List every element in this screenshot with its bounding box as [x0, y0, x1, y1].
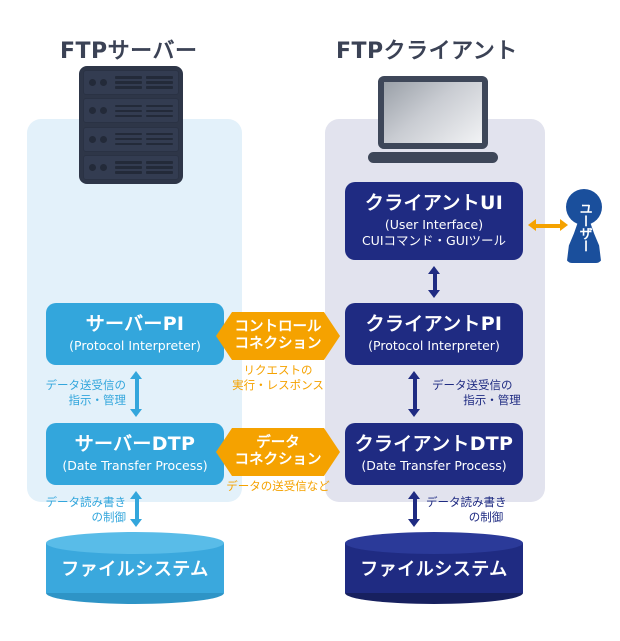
rack-unit [83, 98, 179, 123]
control-connection-sublabel: リクエストの 実行・レスポンス [216, 363, 340, 393]
label-line-2: 指示・管理 [432, 393, 552, 408]
client-pi-title: クライアントPI [366, 314, 503, 336]
server-pi-box[interactable]: サーバーPI (Protocol Interpreter) [46, 303, 224, 365]
label-line-1: データの送受信など [206, 479, 350, 494]
server-filesystem-cylinder[interactable]: ファイルシステム [46, 532, 224, 604]
label-line-1: データ読み書き [10, 495, 126, 510]
laptop-icon [378, 76, 494, 168]
data-connection-banner: データ コネクション [216, 428, 340, 476]
arrow-server-dtp-fs-label: データ読み書き の制御 [10, 495, 126, 525]
data-connection-line-1: データ [256, 435, 300, 452]
rack-unit [83, 70, 179, 95]
control-connection-banner: コントロール コネクション [216, 312, 340, 360]
rack-led-icon [100, 107, 107, 114]
arrow-client-pi-dtp-label: データ送受信の 指示・管理 [432, 378, 552, 408]
label-line-2: 実行・レスポンス [216, 378, 340, 393]
client-title: FTPクライアント [336, 33, 518, 65]
rack-led-icon [100, 136, 107, 143]
label-line-1: データ読み書き [426, 495, 546, 510]
client-ui-subtitle2: CUIコマンド・GUIツール [362, 233, 506, 249]
label-line-2: 指示・管理 [16, 393, 126, 408]
rack-led-icon [89, 79, 96, 86]
server-rack-icon [79, 66, 183, 184]
rack-unit [83, 155, 179, 180]
client-dtp-title: クライアントDTP [355, 434, 514, 456]
rack-led-icon [100, 79, 107, 86]
server-dtp-title: サーバーDTP [75, 434, 196, 456]
rack-led-icon [89, 107, 96, 114]
server-pi-subtitle: (Protocol Interpreter) [69, 338, 201, 354]
label-line-1: データ送受信の [16, 378, 126, 393]
laptop-base [368, 152, 498, 163]
rack-led-icon [89, 164, 96, 171]
server-dtp-subtitle: (Date Transfer Process) [62, 458, 207, 474]
label-line-2: の制御 [10, 510, 126, 525]
label-line-1: リクエストの [216, 363, 340, 378]
server-dtp-box[interactable]: サーバーDTP (Date Transfer Process) [46, 423, 224, 485]
client-ui-subtitle: (User Interface) [385, 217, 483, 233]
client-dtp-box[interactable]: クライアントDTP (Date Transfer Process) [345, 423, 523, 485]
label-line-1: データ送受信の [432, 378, 552, 393]
client-pi-subtitle: (Protocol Interpreter) [368, 338, 500, 354]
client-filesystem-cylinder[interactable]: ファイルシステム [345, 532, 523, 604]
user-label: ユーザー [560, 191, 608, 263]
client-ui-title: クライアントUI [365, 193, 503, 215]
rack-unit [83, 127, 179, 152]
server-pi-title: サーバーPI [86, 314, 185, 336]
ftp-architecture-diagram: FTPサーバー FTPクライアント サーバーP [0, 0, 620, 641]
arrow-client-dtp-fs-icon [408, 491, 421, 527]
server-filesystem-label: ファイルシステム [46, 532, 224, 604]
rack-led-icon [100, 164, 107, 171]
client-dtp-subtitle: (Date Transfer Process) [361, 458, 506, 474]
arrow-server-dtp-fs-icon [130, 491, 143, 527]
user-person-icon: ユーザー [560, 189, 608, 263]
client-ui-box[interactable]: クライアントUI (User Interface) CUIコマンド・GUIツール [345, 182, 523, 260]
laptop-screen [378, 76, 488, 149]
arrow-client-dtp-fs-label: データ読み書き の制御 [426, 495, 546, 525]
data-connection-sublabel: データの送受信など [206, 479, 350, 494]
rack-led-icon [89, 136, 96, 143]
control-connection-line-2: コネクション [235, 336, 322, 353]
client-filesystem-label: ファイルシステム [345, 532, 523, 604]
arrow-server-pi-dtp-label: データ送受信の 指示・管理 [16, 378, 126, 408]
client-pi-box[interactable]: クライアントPI (Protocol Interpreter) [345, 303, 523, 365]
arrow-server-pi-dtp-icon [130, 371, 143, 417]
arrow-client-ui-pi-icon [428, 266, 441, 298]
data-connection-line-2: コネクション [235, 452, 322, 469]
server-title: FTPサーバー [60, 33, 197, 65]
label-line-2: の制御 [426, 510, 546, 525]
control-connection-line-1: コントロール [235, 319, 322, 336]
arrow-client-pi-dtp-icon [408, 371, 421, 417]
